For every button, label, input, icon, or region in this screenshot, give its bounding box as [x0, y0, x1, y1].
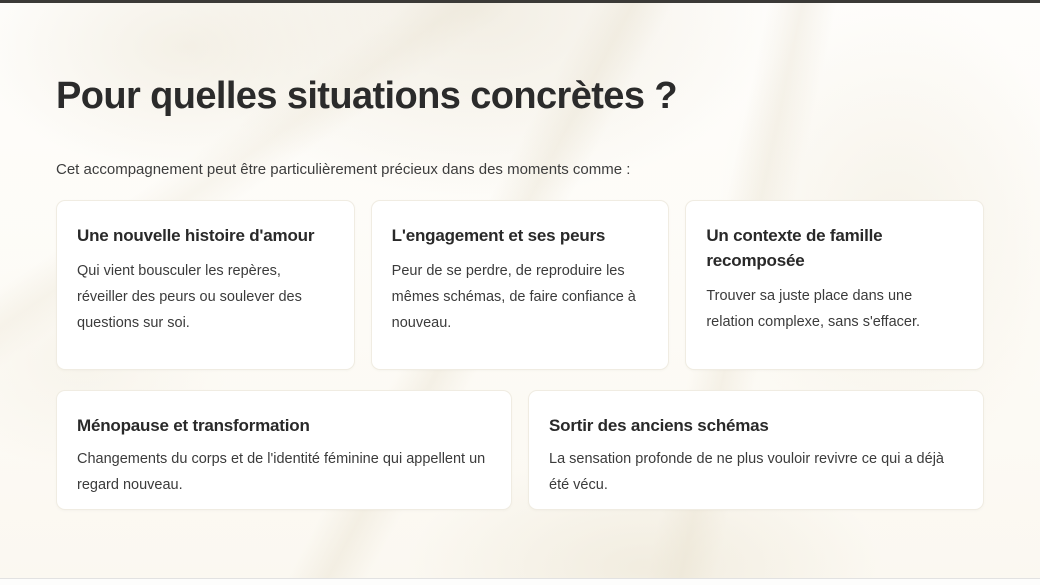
card-title: Sortir des anciens schémas — [549, 413, 963, 438]
card-title: L'engagement et ses peurs — [392, 223, 649, 248]
situation-card[interactable]: Ménopause et transformation Changements … — [56, 390, 512, 510]
card-body: Peur de se perdre, de reproduire les mêm… — [392, 258, 649, 336]
card-title: Une nouvelle histoire d'amour — [77, 223, 334, 248]
bottom-edge-strip — [0, 579, 1040, 585]
page-root: Pour quelles situations concrètes ? Cet … — [0, 0, 1040, 585]
situation-card-row-top: Une nouvelle histoire d'amour Qui vient … — [56, 200, 984, 370]
situation-card[interactable]: L'engagement et ses peurs Peur de se per… — [371, 200, 670, 370]
card-body: Changements du corps et de l'identité fé… — [77, 446, 491, 498]
card-title: Ménopause et transformation — [77, 413, 491, 438]
situation-card[interactable]: Une nouvelle histoire d'amour Qui vient … — [56, 200, 355, 370]
situation-card-row-bottom: Ménopause et transformation Changements … — [56, 390, 984, 510]
page-content: Pour quelles situations concrètes ? Cet … — [0, 0, 1040, 585]
card-title: Un contexte de famille recomposée — [706, 223, 963, 273]
page-subtitle: Cet accompagnement peut être particulièr… — [56, 160, 630, 180]
card-body: La sensation profonde de ne plus vouloir… — [549, 446, 963, 498]
card-body: Qui vient bousculer les repères, réveill… — [77, 258, 334, 336]
situation-card[interactable]: Un contexte de famille recomposée Trouve… — [685, 200, 984, 370]
card-body: Trouver sa juste place dans une relation… — [706, 283, 963, 335]
situation-card[interactable]: Sortir des anciens schémas La sensation … — [528, 390, 984, 510]
page-title: Pour quelles situations concrètes ? — [56, 73, 677, 119]
